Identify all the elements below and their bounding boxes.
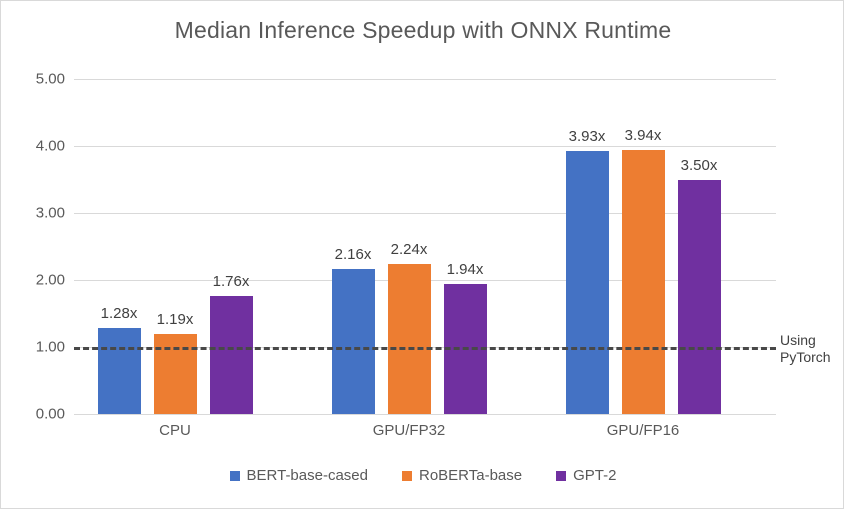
gridline-4 (74, 146, 776, 147)
bar-value-label: 3.50x (681, 157, 718, 174)
bar-value-label: 2.16x (335, 246, 372, 263)
legend-swatch-icon (556, 471, 566, 481)
chart-title: Median Inference Speedup with ONNX Runti… (1, 17, 844, 44)
legend-label: BERT-base-cased (247, 467, 368, 484)
y-axis-tick-3: 3.00 (5, 205, 65, 222)
chart-container: Median Inference Speedup with ONNX Runti… (0, 0, 844, 509)
bar-value-label: 1.19x (157, 311, 194, 328)
legend-swatch-icon (230, 471, 240, 481)
bar-gpu-fp16-gpt-2[interactable] (678, 180, 721, 415)
legend-swatch-icon (402, 471, 412, 481)
reference-line-annotation: Using PyTorch (780, 332, 831, 366)
bar-gpu-fp32-roberta-base[interactable] (388, 264, 431, 414)
bar-gpu-fp16-roberta-base[interactable] (622, 150, 665, 414)
legend-item-roberta-base[interactable]: RoBERTa-base (402, 467, 522, 484)
bar-cpu-bert-base-cased[interactable] (98, 328, 141, 414)
y-axis-tick-0: 0.00 (5, 406, 65, 423)
bar-value-label: 1.94x (447, 261, 484, 278)
x-axis-category-gpu-fp32: GPU/FP32 (373, 422, 446, 439)
bar-value-label: 1.76x (213, 273, 250, 290)
x-axis-category-cpu: CPU (159, 422, 191, 439)
bar-value-label: 2.24x (391, 241, 428, 258)
bar-value-label: 1.28x (101, 305, 138, 322)
bar-value-label: 3.93x (569, 128, 606, 145)
legend-label: GPT-2 (573, 467, 616, 484)
gridline-0 (74, 414, 776, 415)
x-axis-category-gpu-fp16: GPU/FP16 (607, 422, 680, 439)
y-axis-tick-5: 5.00 (5, 71, 65, 88)
legend-item-gpt-2[interactable]: GPT-2 (556, 467, 616, 484)
legend-label: RoBERTa-base (419, 467, 522, 484)
bar-gpu-fp32-bert-base-cased[interactable] (332, 269, 375, 414)
reference-annotation-line1: Using (780, 332, 831, 349)
y-axis-tick-2: 2.00 (5, 272, 65, 289)
bar-gpu-fp16-bert-base-cased[interactable] (566, 151, 609, 414)
chart-legend: BERT-base-casedRoBERTa-baseGPT-2 (1, 467, 844, 484)
reference-line-pytorch (74, 347, 776, 350)
y-axis-tick-1: 1.00 (5, 339, 65, 356)
gridline-5 (74, 79, 776, 80)
legend-item-bert-base-cased[interactable]: BERT-base-cased (230, 467, 368, 484)
bar-value-label: 3.94x (625, 127, 662, 144)
plot-area: 1.28x1.19x1.76x2.16x2.24x1.94x3.93x3.94x… (74, 79, 776, 414)
y-axis-tick-4: 4.00 (5, 138, 65, 155)
y-axis-labels: 5.00 4.00 3.00 2.00 1.00 0.00 (1, 79, 65, 414)
reference-annotation-line2: PyTorch (780, 349, 831, 366)
bar-cpu-gpt-2[interactable] (210, 296, 253, 414)
gridline-3 (74, 213, 776, 214)
